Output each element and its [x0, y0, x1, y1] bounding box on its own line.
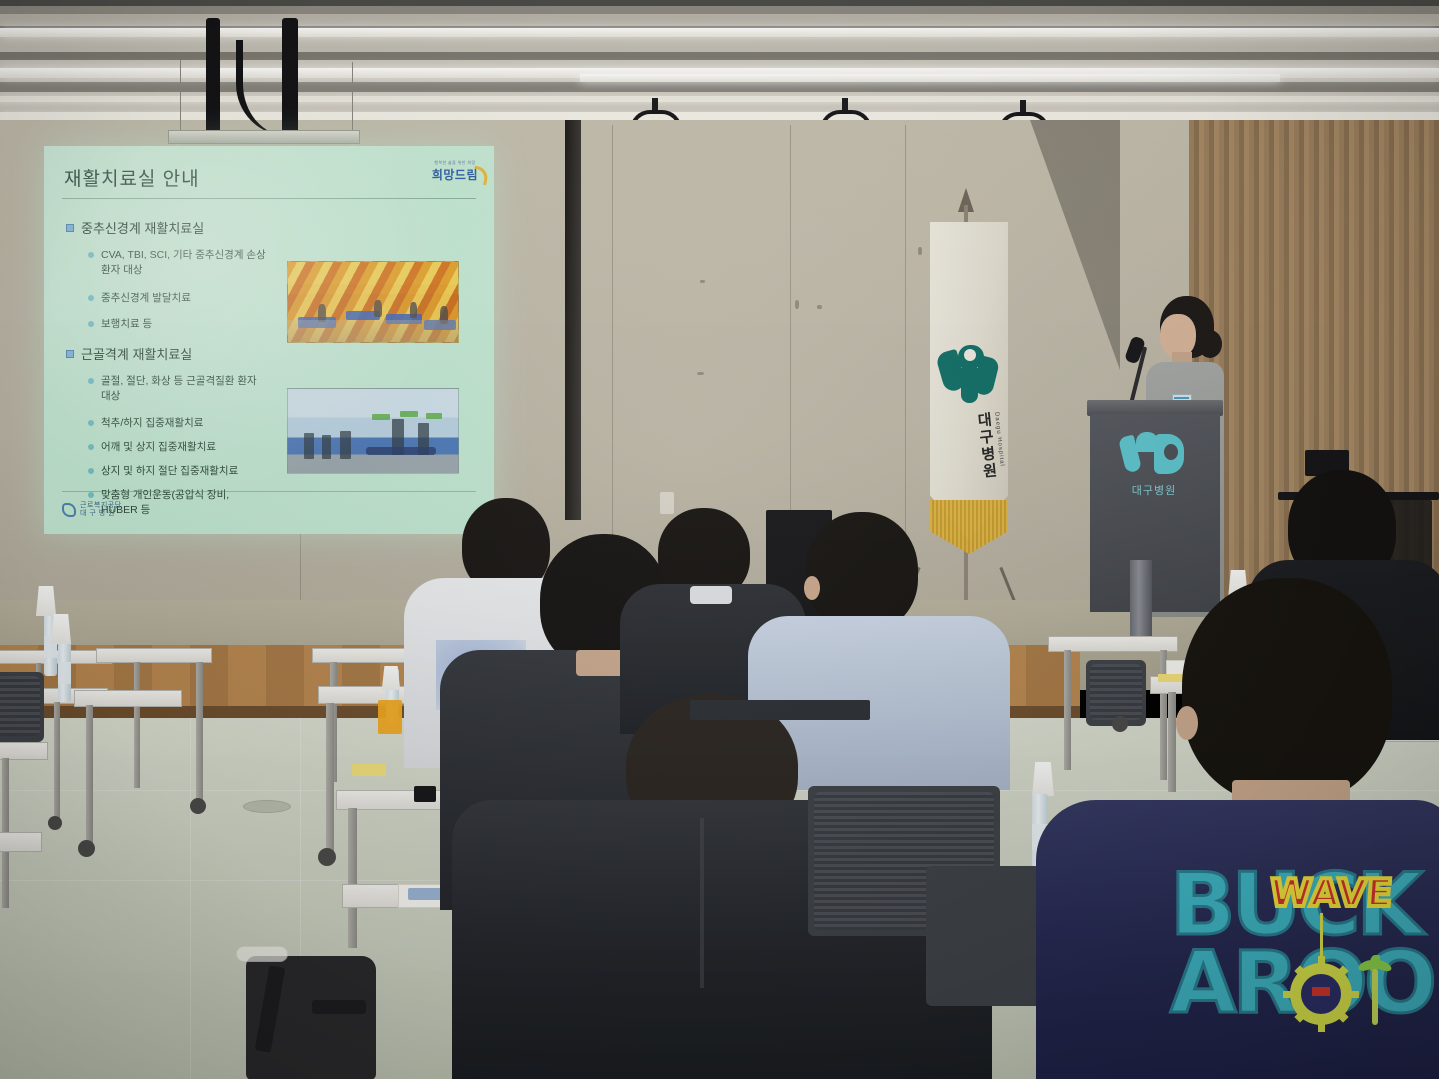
therapy-person: [374, 300, 382, 317]
wall-seam: [905, 125, 906, 545]
slide-bullet-1-1: CVA, TBI, SCI, 기타 중추신경계 손상 환자 대상: [88, 248, 266, 278]
round-bullet-icon: [88, 420, 94, 426]
round-bullet-icon: [88, 321, 94, 327]
gear-tooth: [1283, 991, 1293, 998]
table-caster: [318, 848, 336, 866]
round-bullet-icon: [88, 378, 94, 384]
gym-equipment: [304, 433, 314, 459]
slide-bullet-2-3: 어깨 및 상지 집중재활치료: [88, 440, 288, 455]
table-leg: [326, 703, 334, 853]
slide-bullet-2-2: 척추/하지 집중재활치료: [88, 416, 288, 431]
attendee-ear: [1176, 706, 1198, 740]
wall-dark-pillar-edge: [565, 120, 581, 520]
bullet-text: 보행치료 등: [101, 317, 152, 332]
wall-mark: [697, 372, 704, 375]
bullet-text: 중추신경계 발달치료: [101, 291, 191, 306]
floor-item: [236, 946, 288, 962]
podium-logo-counter: [1164, 444, 1178, 460]
wall-mark: [795, 300, 799, 309]
slide-bullet-2-4: 상지 및 하지 절단 집중재활치료: [88, 464, 288, 479]
sticky-note: [352, 764, 386, 776]
table-left-row4: [96, 648, 212, 663]
gym-equipment: [340, 431, 351, 459]
slide-section-heading-1: 중추신경계 재활치료실: [66, 220, 316, 238]
wall-mark: [817, 305, 822, 309]
projector-wire: [352, 62, 353, 132]
gym-machine-accent: [400, 411, 418, 417]
square-bullet-icon: [66, 350, 74, 358]
table-caster: [48, 816, 62, 830]
emblem-head-dot: [964, 349, 976, 361]
slide-section-heading-2: 근골격계 재활치료실: [66, 346, 316, 364]
gym-machine-accent: [372, 414, 390, 420]
gym-equipment: [322, 435, 331, 459]
bullet-text: 맞춤형 개인운동(공압식 장비, HUBER 등: [101, 488, 266, 518]
table-caster: [1112, 716, 1128, 732]
table-leg: [1168, 692, 1176, 792]
round-bullet-icon: [88, 252, 94, 258]
table-caster: [78, 840, 95, 857]
ceiling-cable-left: [206, 18, 220, 136]
table-leg: [196, 662, 203, 802]
footer-logo-line2: 대 구 병 원: [80, 510, 122, 518]
table-leg: [134, 662, 140, 788]
bullet-text: 어깨 및 상지 집중재활치료: [101, 440, 216, 455]
floor-outlet-cover: [243, 800, 291, 813]
chair-back-mesh: [0, 676, 40, 736]
speaker-badge-stripe: [1174, 397, 1189, 399]
footer-logo-line1: 근로복지공단: [80, 502, 122, 510]
tshirt-word-accent: WAVE: [1268, 871, 1393, 915]
chair-back-mesh: [1090, 664, 1142, 720]
juice-cup: [378, 700, 402, 734]
table-leg: [86, 705, 93, 845]
attendee-head: [1182, 578, 1392, 804]
round-bullet-icon: [88, 295, 94, 301]
round-bullet-icon: [88, 468, 94, 474]
jacket-seam: [700, 818, 704, 988]
slide-title: 재활치료실 안내: [64, 164, 200, 191]
slide-footer-logo: 근로복지공단 대 구 병 원: [62, 502, 122, 518]
podium-label: 대구병원: [1118, 482, 1190, 498]
gear-tooth: [1318, 1022, 1325, 1032]
slide-title-divider: [62, 198, 476, 199]
tshirt-sun-gear-icon: [1290, 963, 1352, 1025]
lecture-hall-photo: 재활치료실 안내 행복한 삶을 위한 희망 희망드림 중추신경계 재활치료실 C…: [0, 0, 1439, 1079]
bullet-text: CVA, TBI, SCI, 기타 중추신경계 손상 환자 대상: [101, 248, 266, 278]
slide-photo-musculoskeletal-gym: [287, 388, 459, 474]
wall-mark: [700, 280, 705, 283]
projector-mount-plate: [168, 130, 360, 144]
attendee-ear: [804, 576, 820, 600]
laptop-on-table: [690, 700, 870, 720]
backpack-strap: [312, 1000, 366, 1014]
projector-wire: [180, 60, 181, 132]
table-leg: [348, 808, 357, 948]
gear-tooth: [1318, 956, 1325, 966]
slide-bullet-1-2: 중추신경계 발달치료: [88, 291, 288, 306]
gym-machine-accent: [426, 413, 442, 419]
slide-footer-divider: [62, 491, 476, 492]
section-heading-text: 중추신경계 재활치료실: [81, 220, 204, 238]
table-leg: [1064, 650, 1071, 770]
ceiling-fluorescent-strip-3: [580, 74, 1280, 82]
bullet-text: 척추/하지 집중재활치료: [101, 416, 203, 431]
therapy-person: [410, 302, 417, 318]
gym-mat: [366, 447, 436, 455]
attendee-neck: [690, 586, 732, 604]
speaker-hair-bun: [1198, 330, 1222, 358]
stage-wall-fixture: [660, 492, 674, 514]
flag-emblem-icon: [940, 345, 996, 409]
table-left-row6: [0, 832, 42, 852]
hope-dream-logo: 행복한 삶을 위한 희망 희망드림: [432, 160, 478, 183]
gear-face-mark: [1312, 987, 1330, 996]
floor-seam: [190, 718, 191, 1079]
attendee-head: [806, 512, 918, 632]
projection-screen: 재활치료실 안내 행복한 삶을 위한 희망 희망드림 중추신경계 재활치료실 C…: [44, 146, 494, 534]
table-caster: [190, 798, 206, 814]
bullet-text: 골절, 절단, 화상 등 근골격질환 환자 대상: [101, 374, 266, 404]
bottle-label: [58, 662, 71, 684]
kcomwel-mark-icon: [62, 503, 76, 517]
round-bullet-icon: [88, 444, 94, 450]
slide-photo-neuro-therapy-room: [287, 261, 459, 343]
wall-mark: [918, 247, 922, 255]
section-heading-text: 근골격계 재활치료실: [81, 346, 192, 364]
square-bullet-icon: [66, 224, 74, 232]
hope-dream-swoosh-icon: [471, 166, 489, 186]
round-bullet-icon: [88, 492, 94, 498]
slide-bullet-1-3: 보행치료 등: [88, 317, 288, 332]
tshirt-palm-icon: [1358, 955, 1398, 1025]
therapy-room-floor: [288, 320, 458, 342]
wall-angled-soffit: [1030, 120, 1120, 370]
bullet-text: 상지 및 하지 절단 집중재활치료: [101, 464, 238, 479]
tshirt-graphic: BUCK AROO WAVE: [1160, 855, 1439, 1055]
device-on-table: [414, 786, 436, 802]
table-leg: [54, 702, 60, 822]
slide-bullet-2-1: 골절, 절단, 화상 등 근골격질환 환자 대상: [88, 374, 266, 404]
